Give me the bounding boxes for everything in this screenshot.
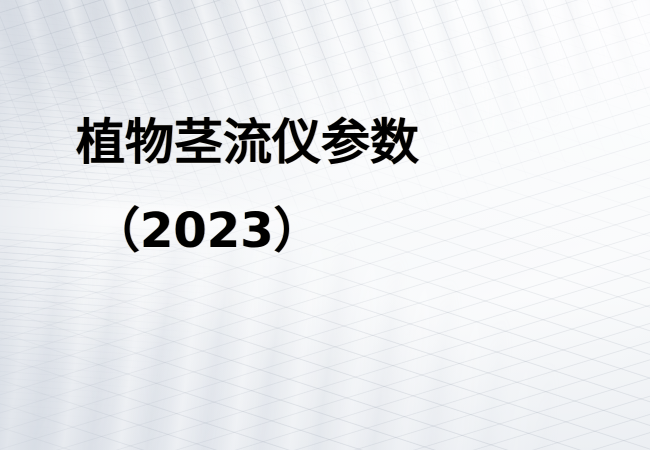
slide-title-year: （2023） (92, 207, 650, 255)
presentation-slide: 植物茎流仪参数 （2023） (0, 0, 650, 450)
slide-title-block: 植物茎流仪参数 （2023） (0, 118, 650, 255)
slide-title-primary: 植物茎流仪参数 (76, 118, 650, 167)
